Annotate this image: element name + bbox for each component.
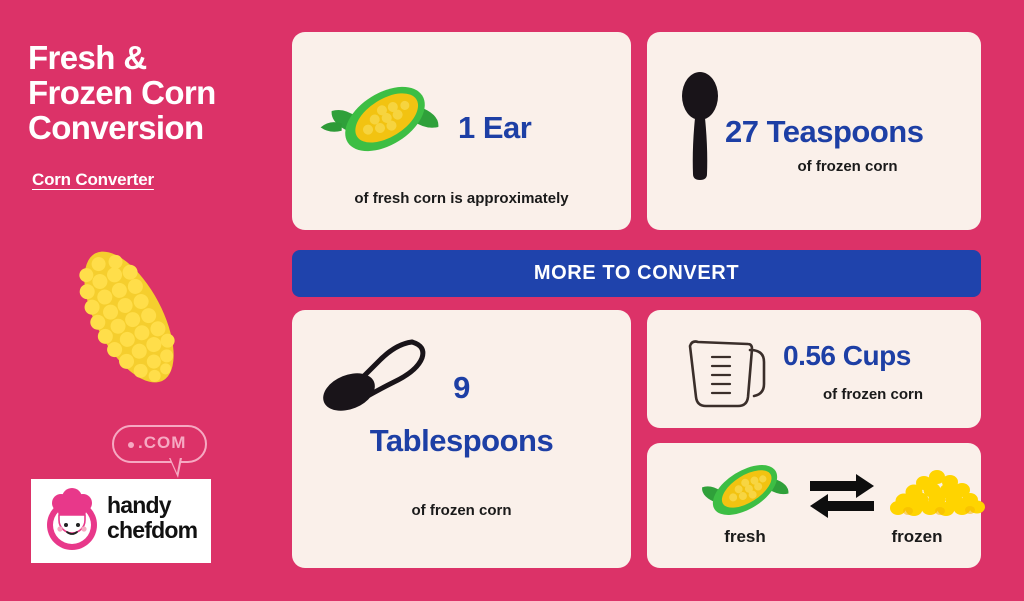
dot-com-bubble: .COM: [112, 425, 217, 477]
brand-logo[interactable]: handy chefdom: [31, 479, 211, 563]
card-value-line-1: 9: [292, 370, 631, 406]
card-cups[interactable]: 0.56 Cups of frozen corn: [647, 310, 981, 428]
banner-label: MORE TO CONVERT: [534, 262, 739, 285]
fresh-label: fresh: [695, 527, 795, 547]
card-caption: of frozen corn: [725, 158, 970, 175]
title-line-3: Conversion: [28, 110, 278, 145]
card-caption: of frozen corn: [292, 502, 631, 519]
corn-ear-icon: [693, 455, 798, 525]
chef-mascot-icon: [39, 487, 105, 553]
card-value: 0.56 Cups: [783, 340, 911, 372]
measuring-cup-icon: [682, 332, 778, 408]
brand-name-line-1: handy: [107, 493, 197, 518]
card-caption: of fresh corn is approximately: [292, 190, 631, 207]
bidirectional-arrows-icon: [802, 469, 882, 519]
more-to-convert-banner[interactable]: MORE TO CONVERT: [292, 250, 981, 297]
dot-com-label: .COM: [138, 433, 186, 453]
teaspoon-icon: [669, 70, 731, 182]
bubble-tail-inner: [170, 457, 180, 473]
card-teaspoons[interactable]: 27 Teaspoons of frozen corn: [647, 32, 981, 230]
title-line-2: Frozen Corn: [28, 75, 278, 110]
frozen-corn-kernels-icon: [882, 461, 992, 523]
left-panel: Fresh & Frozen Corn Conversion Corn Conv…: [0, 0, 292, 601]
corn-converter-link[interactable]: Corn Converter: [32, 170, 154, 190]
brand-name-line-2: chefdom: [107, 518, 197, 543]
card-value: 1 Ear: [458, 110, 531, 146]
title-line-1: Fresh &: [28, 40, 278, 75]
card-fresh-frozen[interactable]: fresh frozen: [647, 443, 981, 568]
card-value: 27 Teaspoons: [725, 114, 923, 150]
page-title: Fresh & Frozen Corn Conversion: [28, 40, 278, 145]
card-caption: of frozen corn: [783, 386, 963, 403]
infographic-canvas: Fresh & Frozen Corn Conversion Corn Conv…: [0, 0, 1024, 601]
card-tablespoons[interactable]: 9 Tablespoons of frozen corn: [292, 310, 631, 568]
corn-cob-icon: [54, 232, 204, 402]
frozen-label: frozen: [862, 527, 972, 547]
brand-name: handy chefdom: [107, 493, 197, 543]
card-value-line-2: Tablespoons: [292, 423, 631, 459]
corn-ear-icon: [320, 64, 450, 174]
bubble-dot-icon: [128, 442, 134, 448]
card-fresh-ear[interactable]: 1 Ear of fresh corn is approximately: [292, 32, 631, 230]
